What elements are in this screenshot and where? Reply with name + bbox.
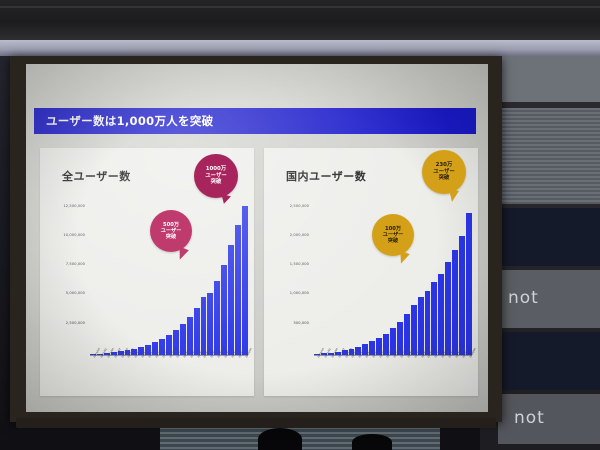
x-tick: 2017/07 (390, 356, 396, 394)
callout-10m: 1000万ユーザー突破 1000万 ユーザー 突破 (194, 154, 238, 198)
x-tick: 2017/01 (376, 356, 382, 394)
x-tick: 2015/10 (118, 356, 124, 394)
charts-container: 全ユーザー数 2,500,0005,000,0007,500,00010,000… (40, 148, 478, 396)
x-axis-domestic-users: 2014/102015/012015/042015/072015/102016/… (314, 356, 472, 394)
x-tick: 2016/07 (362, 356, 368, 394)
bar (242, 206, 248, 355)
slide-title: ユーザー数は1,000万人を突破 (46, 112, 213, 130)
x-tick: 2016/01 (349, 356, 355, 394)
ceiling-light-strip (0, 40, 600, 56)
bar (466, 213, 472, 355)
x-tick: 2016/04 (355, 356, 361, 394)
y-tick-label: 1,000,000 (290, 291, 309, 295)
y-tick-label: 7,500,000 (66, 262, 85, 266)
x-tick: 2016/01 (125, 356, 131, 394)
x-tick: 2018/01 (404, 356, 410, 394)
x-tick: 2016/10 (145, 356, 151, 394)
x-tick: 2017/04 (159, 356, 165, 394)
x-tick: 2019/10 (452, 356, 458, 394)
x-tick: 2020/01 (235, 356, 241, 394)
x-tick: 2017/04 (383, 356, 389, 394)
bar (207, 293, 213, 355)
x-tick: 2017/10 (173, 356, 179, 394)
bar (425, 291, 431, 355)
x-tick: 2018/10 (201, 356, 207, 394)
x-tick: 2015/04 (104, 356, 110, 394)
y-tick-label: 2,500,000 (66, 321, 85, 325)
callout-2300k-l3: 突破 (439, 175, 450, 181)
x-tick: 2015/04 (328, 356, 334, 394)
x-tick: 2018/04 (411, 356, 417, 394)
x-tick: 2020/04 (242, 356, 248, 394)
y-tick-label: 2,500,000 (290, 204, 309, 208)
wall-panel-4-note: not (494, 270, 600, 328)
wall-panel-2 (490, 108, 600, 204)
projector-screen: ユーザー数は1,000万人を突破 全ユーザー数 2,500,0005,000,0… (26, 64, 488, 412)
bar (221, 265, 227, 355)
slide: ユーザー数は1,000万人を突破 全ユーザー数 2,500,0005,000,0… (26, 64, 488, 412)
wall-panel-6-note: not (498, 394, 600, 444)
wall-panel-1 (498, 56, 600, 102)
x-tick: 2015/01 (321, 356, 327, 394)
bar (459, 236, 465, 355)
x-tick: 2019/07 (445, 356, 451, 394)
y-axis-domestic-users: 500,0001,000,0001,500,0002,000,0002,500,… (272, 198, 312, 356)
x-tick: 2016/07 (138, 356, 144, 394)
bar (431, 282, 437, 355)
x-tick: 2015/07 (111, 356, 117, 394)
callout-1000k: 100万 ユーザー 突破 (372, 214, 414, 256)
x-tick: 2018/10 (425, 356, 431, 394)
callout-5m: 500万 ユーザー 突破 (150, 210, 192, 252)
y-axis-all-users: 2,500,0005,000,0007,500,00010,000,00012,… (48, 198, 88, 356)
x-tick: 2014/10 (90, 356, 96, 394)
x-tick: 2019/07 (221, 356, 227, 394)
callout-2300k: 230万 ユーザー 突破 (422, 150, 466, 194)
x-tick: 2014/10 (314, 356, 320, 394)
ceiling-seam (0, 6, 600, 8)
audience-silhouette-1 (258, 428, 302, 450)
x-tick: 2019/01 (431, 356, 437, 394)
x-tick: 2019/10 (228, 356, 234, 394)
y-tick-label: 500,000 (293, 321, 309, 325)
plot-all-users: 2,500,0005,000,0007,500,00010,000,00012,… (48, 198, 248, 356)
x-tick: 2017/07 (166, 356, 172, 394)
x-tick: 2018/01 (180, 356, 186, 394)
projector-screen-frame: ユーザー数は1,000万人を突破 全ユーザー数 2,500,0005,000,0… (10, 56, 502, 422)
chart-card-all-users: 全ユーザー数 2,500,0005,000,0007,500,00010,000… (40, 148, 254, 396)
x-tick: 2020/04 (466, 356, 472, 394)
wall-panel-label-1: not (508, 288, 539, 308)
x-tick: 2018/07 (194, 356, 200, 394)
audience-silhouette-2 (352, 434, 392, 450)
y-tick-label: 10,000,000 (63, 233, 85, 237)
ceiling (0, 0, 600, 40)
chart-card-domestic-users: 国内ユーザー数 500,0001,000,0001,500,0002,000,0… (264, 148, 478, 396)
callout-5m-l3: 突破 (166, 234, 176, 240)
x-tick: 2016/10 (369, 356, 375, 394)
bar (418, 297, 424, 355)
x-tick: 2015/10 (342, 356, 348, 394)
x-tick: 2015/01 (97, 356, 103, 394)
callout-1000k-l3: 突破 (388, 238, 398, 244)
bar (201, 297, 207, 355)
x-tick: 2016/04 (131, 356, 137, 394)
bar (214, 281, 220, 355)
x-tick: 2017/10 (397, 356, 403, 394)
x-tick: 2020/01 (459, 356, 465, 394)
x-tick: 2018/04 (187, 356, 193, 394)
x-axis-all-users: 2014/102015/012015/042015/072015/102016/… (90, 356, 248, 394)
wall-panel-label-2: not (514, 408, 545, 428)
wall-panel-5 (486, 332, 600, 390)
x-tick: 2019/04 (438, 356, 444, 394)
bar (235, 225, 241, 355)
x-tick: 2018/07 (418, 356, 424, 394)
bar (228, 245, 234, 355)
screen-bottom-bar (16, 418, 496, 428)
bar (438, 274, 444, 355)
plot-domestic-users: 500,0001,000,0001,500,0002,000,0002,500,… (272, 198, 472, 356)
y-tick-label: 2,000,000 (290, 233, 309, 237)
x-tick: 2019/04 (214, 356, 220, 394)
y-tick-label: 1,500,000 (290, 262, 309, 266)
x-tick: 2019/01 (207, 356, 213, 394)
callout-2300k-tail (447, 189, 459, 203)
x-tick: 2015/07 (335, 356, 341, 394)
y-tick-label: 12,500,000 (63, 204, 85, 208)
callout-10m-l3: 突破 (211, 179, 222, 185)
bar (445, 262, 451, 355)
x-tick: 2017/01 (152, 356, 158, 394)
bar (452, 250, 458, 355)
y-tick-label: 5,000,000 (66, 291, 85, 295)
